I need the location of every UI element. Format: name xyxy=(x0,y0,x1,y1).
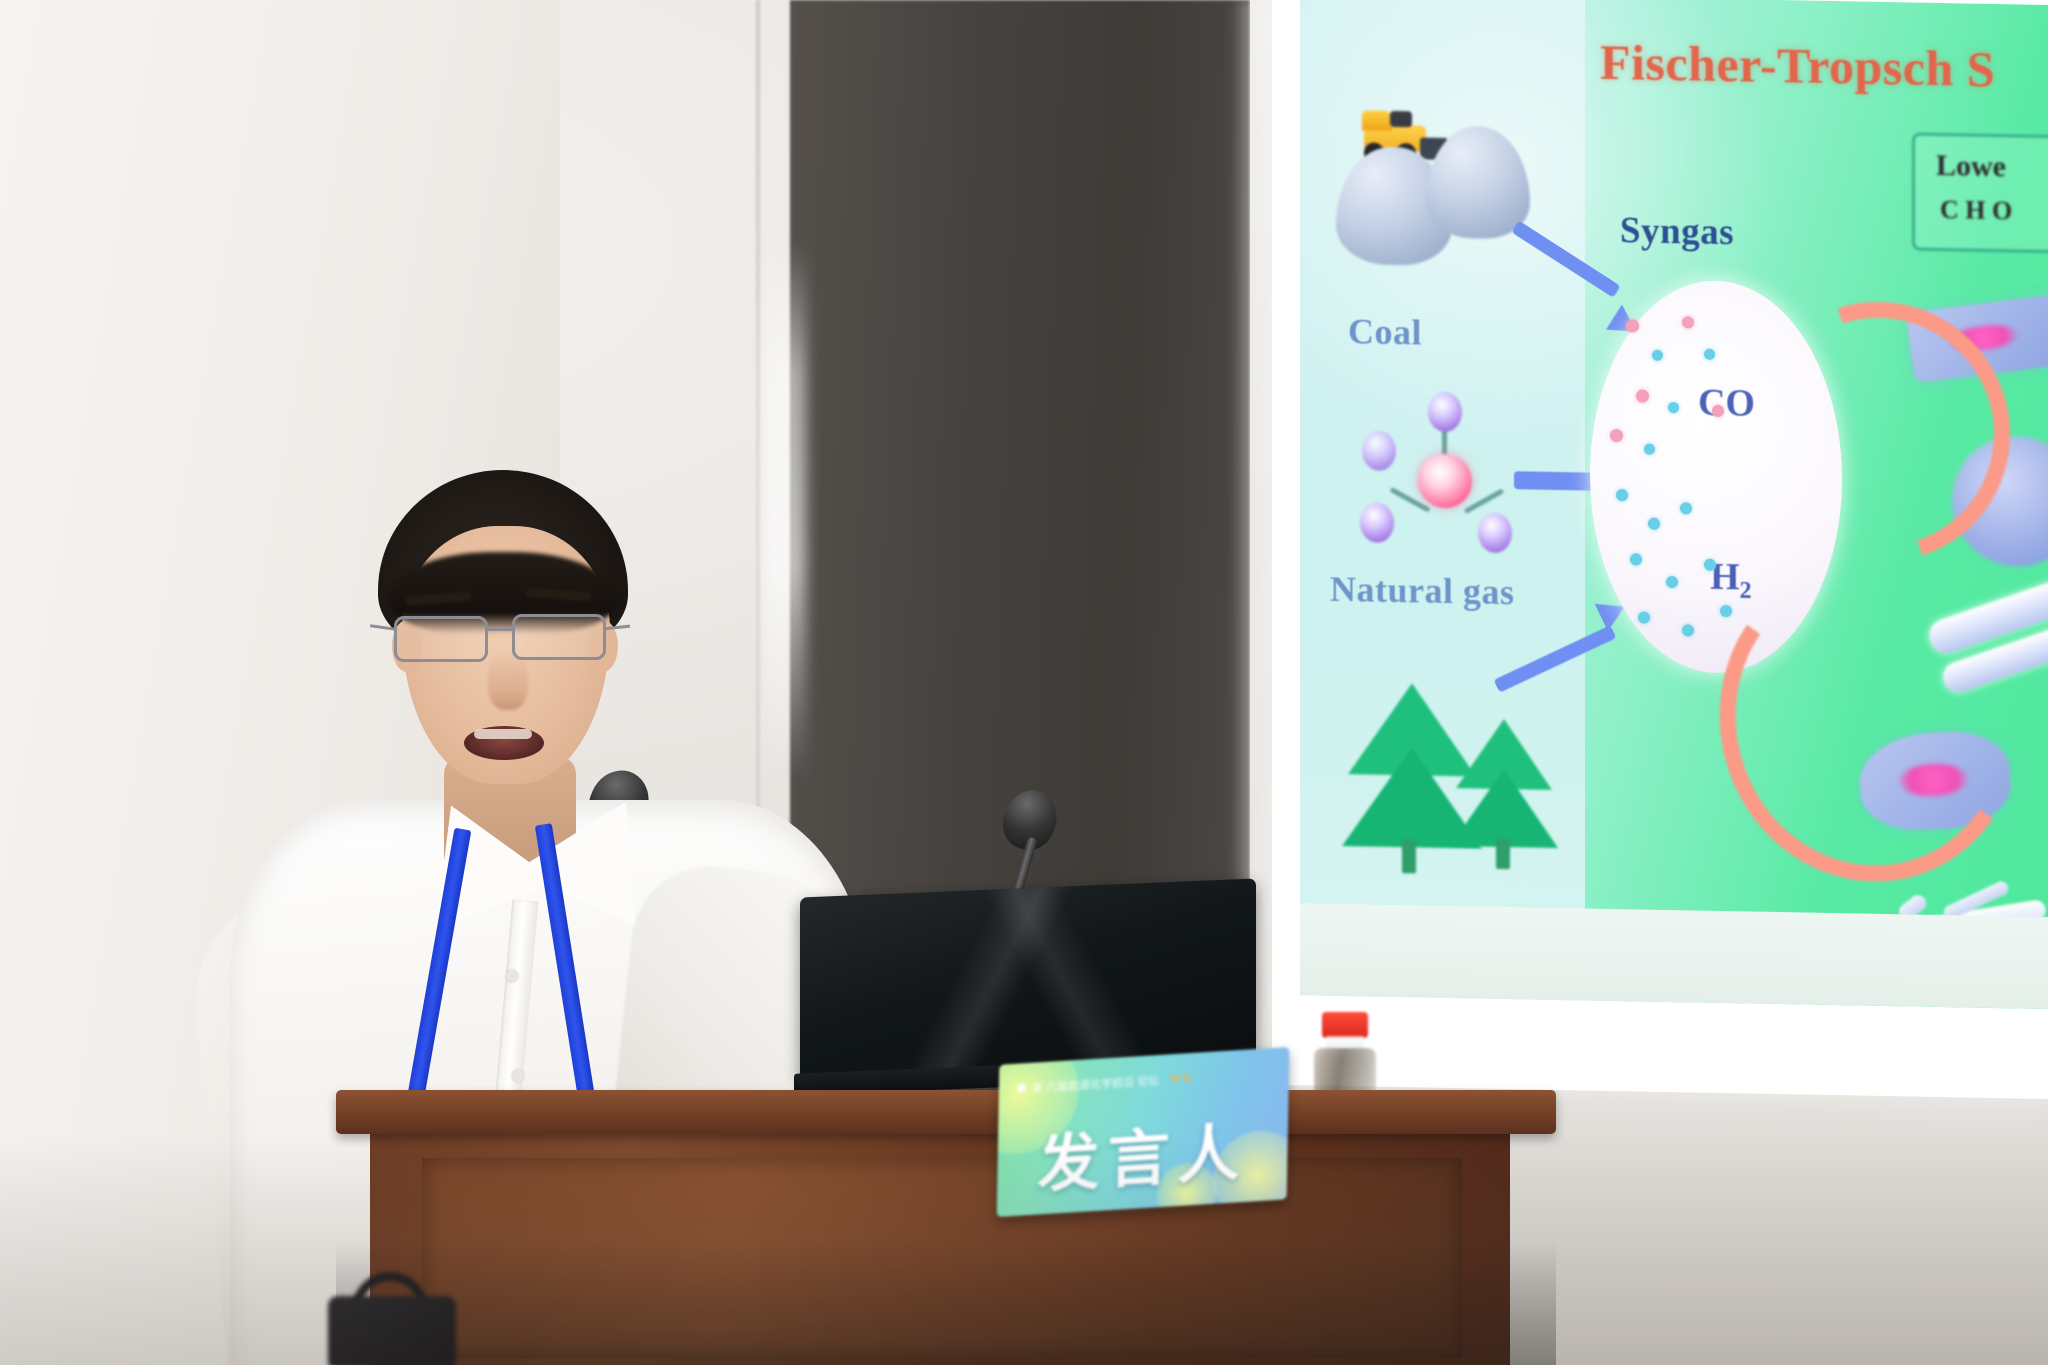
pine-tree-icon xyxy=(1450,718,1560,880)
product-box-line1: Lowe xyxy=(1936,149,2006,184)
h2-label: H2 xyxy=(1710,555,1752,605)
coal-label: Coal xyxy=(1348,310,1422,353)
conference-photo-stage: Fischer-Tropsch S Coal xyxy=(0,0,2048,1365)
nameplate-logo-icon xyxy=(1017,1083,1026,1093)
screen-bottom-edge xyxy=(1300,903,2048,1010)
mouth xyxy=(464,726,544,760)
nose xyxy=(488,652,528,710)
product-box-line2: C H O xyxy=(1940,195,2012,226)
syngas-label: Syngas xyxy=(1620,209,1734,254)
natural-gas-label: Natural gas xyxy=(1330,568,1515,613)
bottle-cap xyxy=(1322,1012,1368,1038)
slide-title: Fischer-Tropsch S xyxy=(1600,33,1995,98)
projection-screen: Fischer-Tropsch S Coal xyxy=(1272,0,2048,1099)
laptop-sheen xyxy=(800,878,1256,1077)
methane-molecule-icon xyxy=(1358,390,1528,561)
laptop-lid xyxy=(800,878,1256,1077)
projected-slide: Fischer-Tropsch S Coal xyxy=(1300,0,2048,1010)
h2-subscript: 2 xyxy=(1740,578,1752,604)
podium-top-surface xyxy=(336,1090,1556,1134)
co-label: CO xyxy=(1698,381,1755,426)
nameplate-logo-mark: ∿∿ xyxy=(1169,1069,1193,1087)
floor-shadow xyxy=(0,1135,2048,1365)
